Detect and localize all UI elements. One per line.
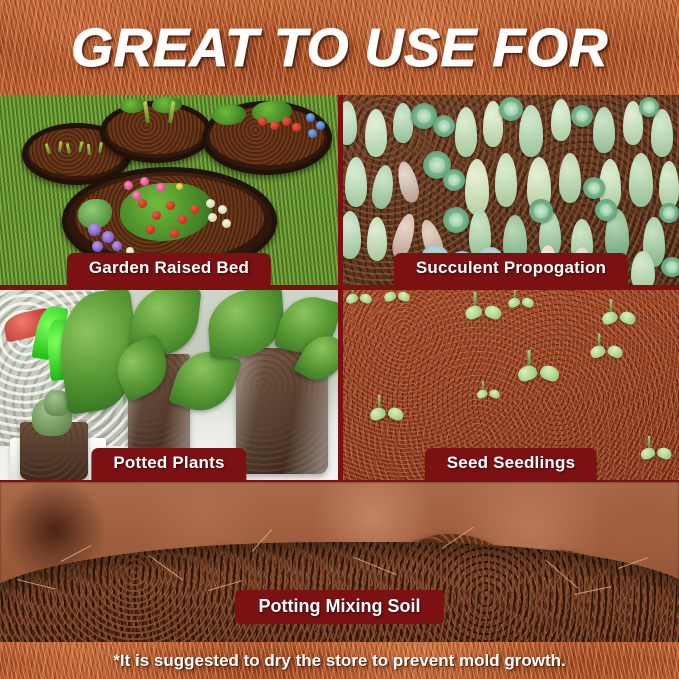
panel-potted-plants[interactable]: Potted Plants [0,290,338,480]
panel-seed-seedlings[interactable]: Seed Seedlings [343,290,679,480]
flower-bloom [132,191,141,200]
page-title: GREAT TO USE FOR [0,21,679,75]
footer-banner: *It is suggested to dry the store to pre… [0,642,679,679]
succulent-leaf [659,161,679,209]
succulent-rosette [443,207,469,233]
flower-bloom [176,183,183,190]
strawberry [258,117,267,126]
panel-label-seed-seedlings: Seed Seedlings [425,448,597,480]
succulent-leaf [345,157,367,207]
coir-fiber [149,555,184,580]
panel-garden-raised-bed[interactable]: Garden Raised Bed [0,95,338,285]
succulent-rosette [499,97,523,121]
succulent-leaf [593,107,615,153]
coir-fiber [574,586,611,595]
panel-label-garden-raised-bed: Garden Raised Bed [67,253,271,285]
succulent-rosette [661,257,679,277]
succulent-leaf [455,107,477,157]
flower-bloom [92,241,103,252]
flower-bloom [218,205,227,214]
seedling-stem [474,292,477,306]
strawberry [270,121,279,130]
succulent-rosette [595,199,617,221]
succulent-rosette [571,105,593,127]
succulent-rosette [639,97,659,117]
succulent-rosette [659,203,679,223]
strawberry [282,117,291,126]
potting-soil-banner[interactable]: Potting Mixing Soil [0,482,679,642]
flower-bloom [306,113,315,122]
flower-bloom [112,241,122,251]
coir-fiber [354,557,397,575]
succulent-leaf [651,109,673,157]
seedling-stem [378,395,381,408]
strawberry [190,205,199,214]
seedling-stem [610,299,613,312]
coir-fiber [207,580,242,591]
succulent-rosette [529,199,553,223]
product-infographic: GREAT TO USE FOR [0,0,679,679]
panel-label-potted-plants: Potted Plants [91,448,246,480]
strawberry [292,123,301,132]
succulent-leaf [365,109,387,157]
flower-bloom [102,231,114,243]
seedling-stem [598,334,601,347]
succulent-leaf [393,103,413,143]
flower-bloom [308,129,317,138]
flower-bloom [208,213,217,222]
coir-fiber [544,559,578,589]
strawberry [146,225,155,234]
panel-succulent-propogation[interactable]: Succulent Propogation [343,95,679,285]
flower-bloom [140,177,149,186]
panel-label-succulent-propogation: Succulent Propogation [394,253,628,285]
succulent-rosette [433,115,455,137]
use-case-grid: Garden Raised Bed [0,95,679,480]
seedling-stem [648,436,650,448]
strawberry [152,211,161,220]
header-banner: GREAT TO USE FOR [0,0,679,95]
succulent-leaf [559,153,581,203]
footer-note: *It is suggested to dry the store to pre… [0,651,679,671]
flower-bloom [124,181,133,190]
flower-bloom [88,223,101,236]
succulent-rosette [583,177,605,199]
strawberry [178,215,187,224]
coir-fiber [17,579,56,590]
flower-bloom [316,121,325,130]
strawberry [138,199,147,208]
flower-bloom [206,199,215,208]
succulent-rosette [443,169,465,191]
flower-bloom [222,219,231,228]
strawberry [166,201,175,210]
strawberry [170,229,179,238]
banner-label-potting-mixing-soil: Potting Mixing Soil [235,590,445,624]
succulent-leaf [367,217,387,261]
seedling-stem [527,350,530,366]
flower-bloom [156,183,165,192]
succulent-leaf [551,99,571,141]
